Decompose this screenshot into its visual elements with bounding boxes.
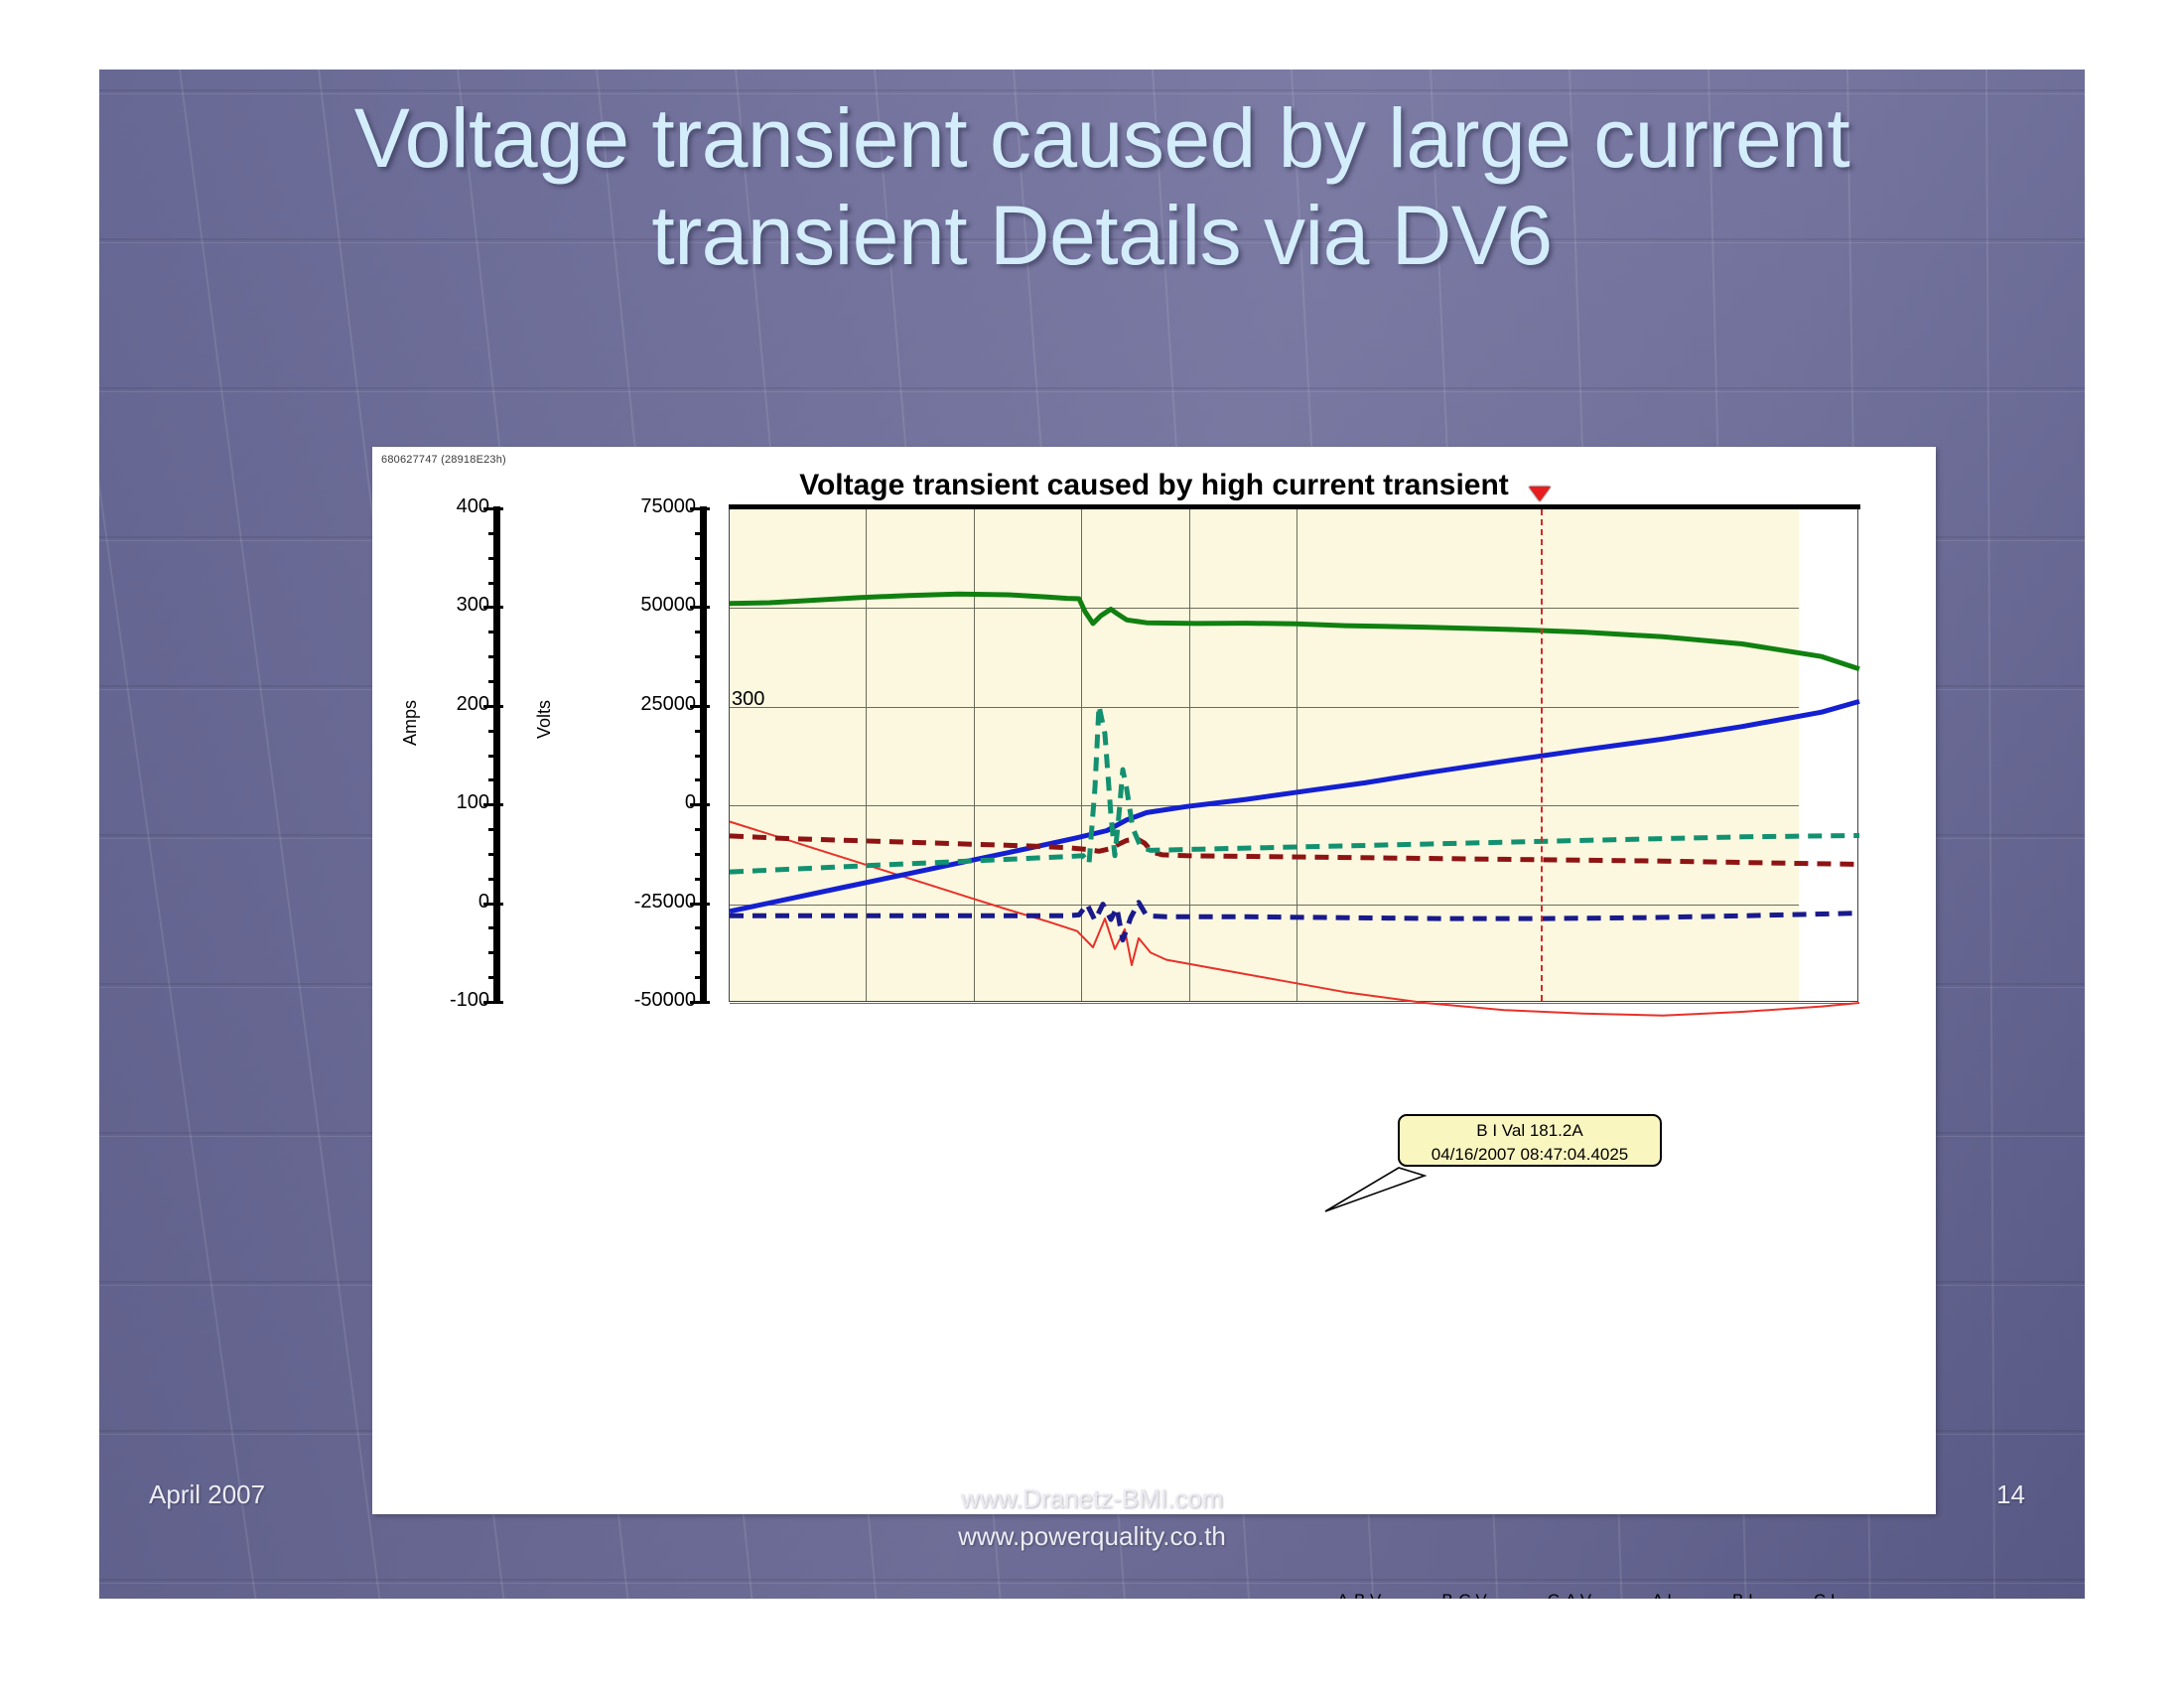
chart-card: 680627747 (28918E23h) Voltage transient … xyxy=(372,447,1936,1514)
trace-lines xyxy=(730,509,1859,1003)
cursor-marker-triangle-icon[interactable] xyxy=(1529,487,1551,501)
axis-minor-tick xyxy=(488,951,500,954)
legend-swatch-bcv-icon xyxy=(1390,1599,1435,1600)
slide: Voltage transient caused by large curren… xyxy=(0,0,2184,1688)
legend-item: A-B V xyxy=(1286,1591,1381,1599)
callout-leader-line xyxy=(1325,1160,1444,1219)
axis-minor-tick xyxy=(488,655,500,658)
legend-label: C I xyxy=(1814,1591,1836,1599)
axis-minor-tick xyxy=(488,778,500,781)
axis-minor-tick xyxy=(695,976,707,979)
legend-label: A-B V xyxy=(1337,1591,1381,1599)
axis-minor-tick xyxy=(695,828,707,831)
axis-tick-label: 75000 xyxy=(547,495,696,518)
axis-tick-label: 400 xyxy=(341,495,489,518)
axis-tick-label: -50000 xyxy=(547,989,696,1012)
trace-bi xyxy=(730,706,1859,872)
axis-minor-tick xyxy=(488,680,500,683)
axis-minor-tick xyxy=(488,976,500,979)
overlapped-axis-label: 300 xyxy=(732,688,764,711)
axis-minor-tick xyxy=(488,631,500,633)
axis-minor-tick xyxy=(488,557,500,560)
axis-tick-label: 200 xyxy=(341,693,489,716)
axis-minor-tick xyxy=(488,926,500,929)
axis-minor-tick xyxy=(695,853,707,856)
axis-minor-tick xyxy=(695,680,707,683)
axis-minor-tick xyxy=(695,778,707,781)
trace-ci xyxy=(730,903,1859,940)
axis-minor-tick xyxy=(695,532,707,535)
legend-item: A I xyxy=(1600,1591,1672,1599)
axis-tick-label: 300 xyxy=(341,594,489,617)
legend-swatch-bi-icon xyxy=(1681,1599,1726,1600)
record-serial-number: 680627747 (28918E23h) xyxy=(381,454,506,466)
legend-item: C I xyxy=(1762,1591,1836,1599)
axis-minor-tick xyxy=(695,926,707,929)
value-callout: B I Val 181.2A 04/16/2007 08:47:04.4025 xyxy=(1398,1114,1662,1167)
axis-minor-tick xyxy=(488,532,500,535)
axis-tick-label: 100 xyxy=(341,791,489,814)
axis-tick-label: 0 xyxy=(341,891,489,914)
legend-label: A I xyxy=(1652,1591,1672,1599)
legend-label: B-C V xyxy=(1441,1591,1486,1599)
trace-cav xyxy=(730,701,1859,911)
axis-tick-label: 25000 xyxy=(547,693,696,716)
legend-item: B-C V xyxy=(1390,1591,1486,1599)
legend-item: C-A V xyxy=(1496,1591,1591,1599)
axis-minor-tick xyxy=(695,557,707,560)
axis-minor-tick xyxy=(488,730,500,733)
axis-minor-tick xyxy=(488,853,500,856)
plot-area[interactable]: 300 xyxy=(729,508,1858,1002)
footer-url-2[interactable]: www.powerquality.co.th xyxy=(0,1517,2184,1555)
axis-tick-label: 0 xyxy=(547,791,696,814)
legend-label: B I xyxy=(1732,1591,1753,1599)
slide-title: Voltage transient caused by large curren… xyxy=(218,89,1985,284)
legend-swatch-ai-icon xyxy=(1600,1599,1646,1600)
axis-minor-tick xyxy=(695,730,707,733)
axis-tick-label: -25000 xyxy=(547,891,696,914)
legend-swatch-ci-icon xyxy=(1762,1599,1808,1600)
legend-label: C-A V xyxy=(1548,1591,1591,1599)
axis-minor-tick xyxy=(488,878,500,881)
cursor-marker-line[interactable] xyxy=(1541,509,1543,1001)
callout-line-1: B I Val 181.2A xyxy=(1400,1119,1660,1143)
axis-minor-tick xyxy=(695,631,707,633)
chart-legend: A-B V B-C V C-A V A I B I C I xyxy=(1286,1591,1836,1599)
axis-minor-tick xyxy=(695,878,707,881)
legend-swatch-cav-icon xyxy=(1496,1599,1542,1600)
axis-tick-label: -100 xyxy=(341,989,489,1012)
axis-minor-tick xyxy=(488,755,500,758)
axis-minor-tick xyxy=(695,755,707,758)
legend-item: B I xyxy=(1681,1591,1753,1599)
footer-urls: www.Dranetz-BMI.com www.powerquality.co.… xyxy=(0,1479,2184,1555)
footer-url-1[interactable]: www.Dranetz-BMI.com xyxy=(0,1479,2184,1517)
axis-minor-tick xyxy=(695,582,707,585)
horizontal-gridline xyxy=(730,1003,1857,1004)
axis-minor-tick xyxy=(695,951,707,954)
axis-tick-label: 50000 xyxy=(547,594,696,617)
trace-ai xyxy=(730,836,1859,865)
axis-minor-tick xyxy=(695,655,707,658)
callout-line-2: 04/16/2007 08:47:04.4025 xyxy=(1400,1143,1660,1167)
slide-background-panel: Voltage transient caused by large curren… xyxy=(99,70,2085,1599)
trace-bcv xyxy=(730,594,1859,669)
axis-minor-tick xyxy=(488,828,500,831)
footer-page-number: 14 xyxy=(1996,1479,2025,1510)
axis-minor-tick xyxy=(488,582,500,585)
